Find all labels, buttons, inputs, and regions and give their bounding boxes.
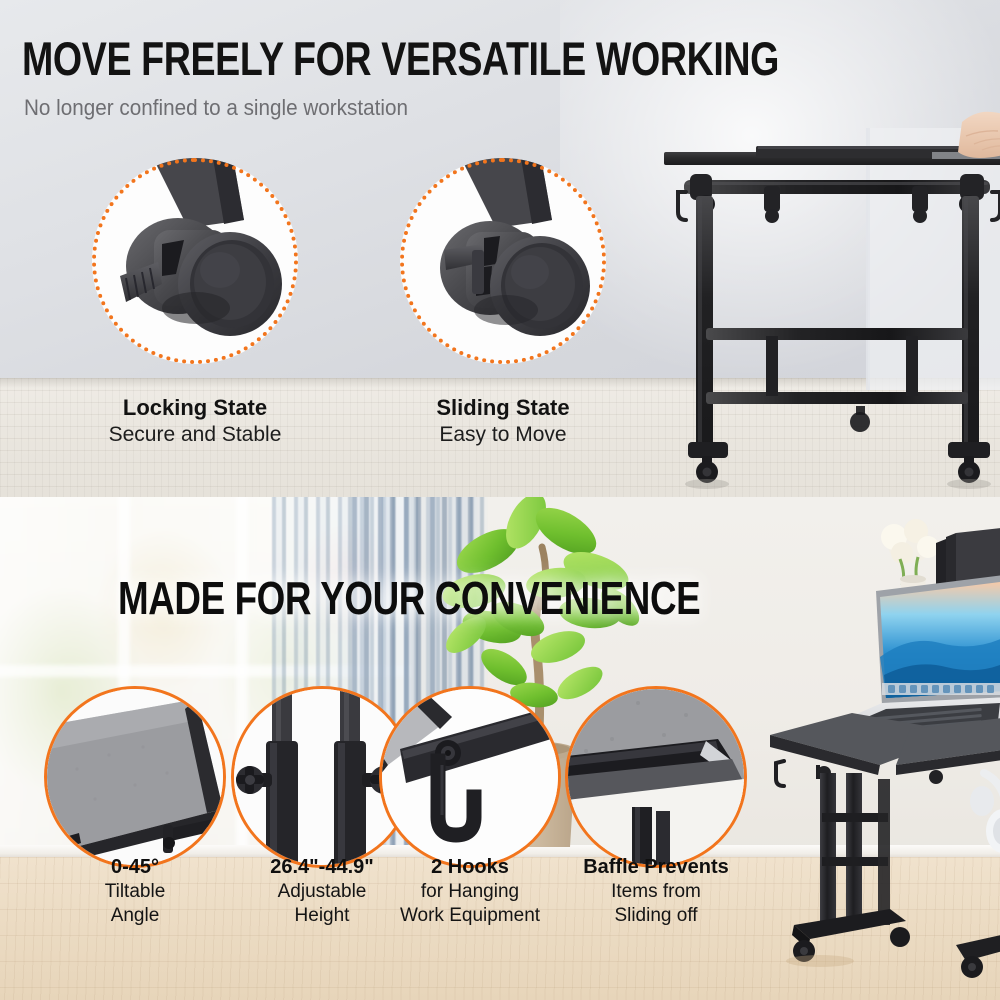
page-subtitle-top: No longer confined to a single workstati… (24, 95, 408, 121)
hook-illustration (382, 689, 558, 865)
callout-baffle-circle (568, 689, 744, 865)
caption-baffle: Baffle Prevents Items from Sliding off (576, 855, 736, 928)
caption-sliding-state-title: Sliding State (403, 395, 603, 422)
caption-baffle-title: Baffle Prevents (576, 855, 736, 880)
caption-locking-state: Locking State Secure and Stable (95, 395, 295, 447)
caption-two-hooks: 2 Hooks for Hanging Work Equipment (390, 855, 550, 928)
page-title-top: MOVE FREELY FOR VERSATILE WORKING (22, 35, 779, 82)
top-product-photo (660, 70, 1000, 497)
caption-two-hooks-title: 2 Hooks (390, 855, 550, 880)
caption-adjustable-height: 26.4"-44.9" Adjustable Height (242, 855, 402, 928)
hand (958, 112, 1000, 158)
panel-made-for-convenience: MADE FOR YOUR CONVENIENCE (0, 497, 1000, 1000)
caption-tiltable-angle-title: 0-45° (55, 855, 215, 880)
desk-with-laptop-illustration (760, 497, 1000, 1000)
caption-two-hooks-line1: for Hanging (390, 880, 550, 904)
callout-locking-state-circle (92, 158, 298, 364)
caption-tiltable-angle-line2: Angle (55, 904, 215, 928)
caption-tiltable-angle: 0-45° Tiltable Angle (55, 855, 215, 928)
page-title-bottom: MADE FOR YOUR CONVENIENCE (118, 575, 700, 621)
callout-tiltable-angle-circle (47, 689, 223, 865)
caption-tiltable-angle-line1: Tiltable (55, 880, 215, 904)
caption-baffle-line2: Sliding off (576, 904, 736, 928)
callout-two-hooks-circle (382, 689, 558, 865)
caster-sliding-illustration (400, 158, 606, 364)
baffle-illustration (568, 689, 744, 865)
caption-adjustable-height-line2: Height (242, 904, 402, 928)
caption-baffle-line1: Items from (576, 880, 736, 904)
caster-locked-illustration (92, 158, 298, 364)
bottom-product-photo (760, 497, 1000, 1000)
headphones (970, 773, 1000, 853)
caption-adjustable-height-line1: Adjustable (242, 880, 402, 904)
infographic-root: MOVE FREELY FOR VERSATILE WORKING No lon… (0, 0, 1000, 1000)
rolling-desk-illustration (660, 70, 1000, 497)
caption-sliding-state: Sliding State Easy to Move (403, 395, 603, 447)
caption-two-hooks-line2: Work Equipment (390, 904, 550, 928)
caption-adjustable-height-title: 26.4"-44.9" (242, 855, 402, 880)
tilt-angle-illustration (47, 689, 223, 865)
caption-locking-state-subtitle: Secure and Stable (95, 422, 295, 448)
panel-move-freely: MOVE FREELY FOR VERSATILE WORKING No lon… (0, 0, 1000, 497)
caption-sliding-state-subtitle: Easy to Move (403, 422, 603, 448)
callout-sliding-state-circle (400, 158, 606, 364)
caption-locking-state-title: Locking State (95, 395, 295, 422)
